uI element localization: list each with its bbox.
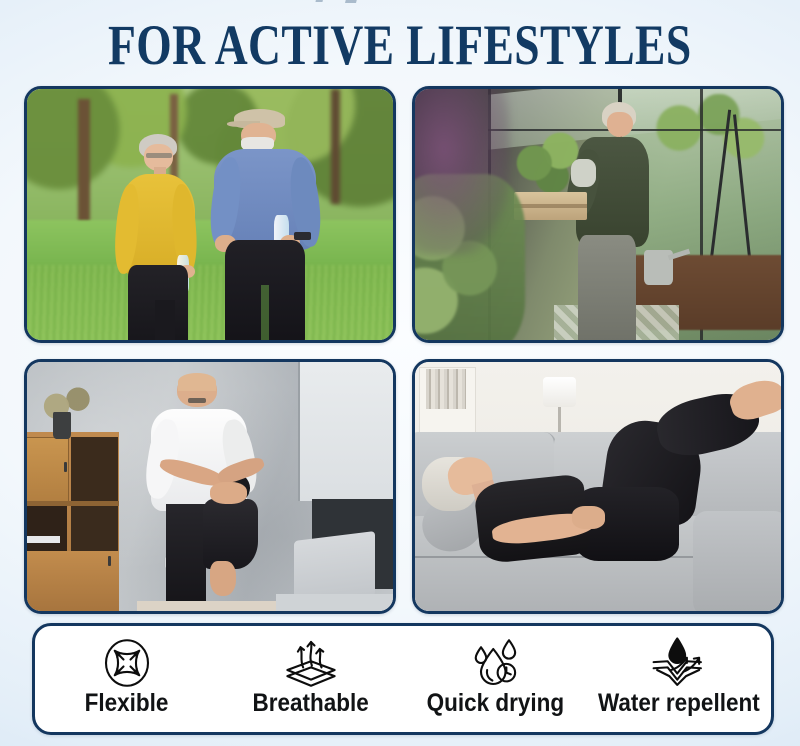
fabric-feature-bar: Flexible Breathable (32, 623, 774, 735)
photo-park-walk (24, 86, 396, 343)
quick-drying-droplet-clock-icon (466, 635, 524, 691)
photo-sofa-leg-raise (412, 359, 784, 614)
park-walk-scene (27, 89, 393, 340)
page-title: FOR ACTIVE LIFESTYLES (108, 17, 692, 74)
feature-label-water-repellent: Water repellent (598, 689, 760, 718)
feature-label-breathable: Breathable (253, 689, 369, 718)
sofa-leg-raise-scene (415, 362, 781, 611)
photo-home-stretching (24, 359, 396, 614)
feature-breathable: Breathable (219, 626, 403, 732)
feature-label-flexible: Flexible (85, 689, 169, 718)
headline-container: FOR ACTIVE LIFESTYLES (0, 0, 800, 84)
greenhouse-scene (415, 89, 781, 340)
breathable-airflow-icon (280, 635, 342, 691)
feature-quick-drying: Quick drying (403, 626, 587, 732)
feature-water-repellent: Water repellent (587, 626, 771, 732)
feature-label-quick-drying: Quick drying (426, 689, 564, 718)
product-feature-banner: FOR ACTIVE LIFESTYLES (0, 0, 800, 746)
flexible-stretch-icon (99, 635, 155, 691)
home-stretching-scene (27, 362, 393, 611)
lifestyle-photo-grid (24, 86, 784, 614)
photo-greenhouse-gardening (412, 86, 784, 343)
feature-flexible: Flexible (35, 626, 219, 732)
water-repellent-droplet-icon (648, 635, 710, 691)
